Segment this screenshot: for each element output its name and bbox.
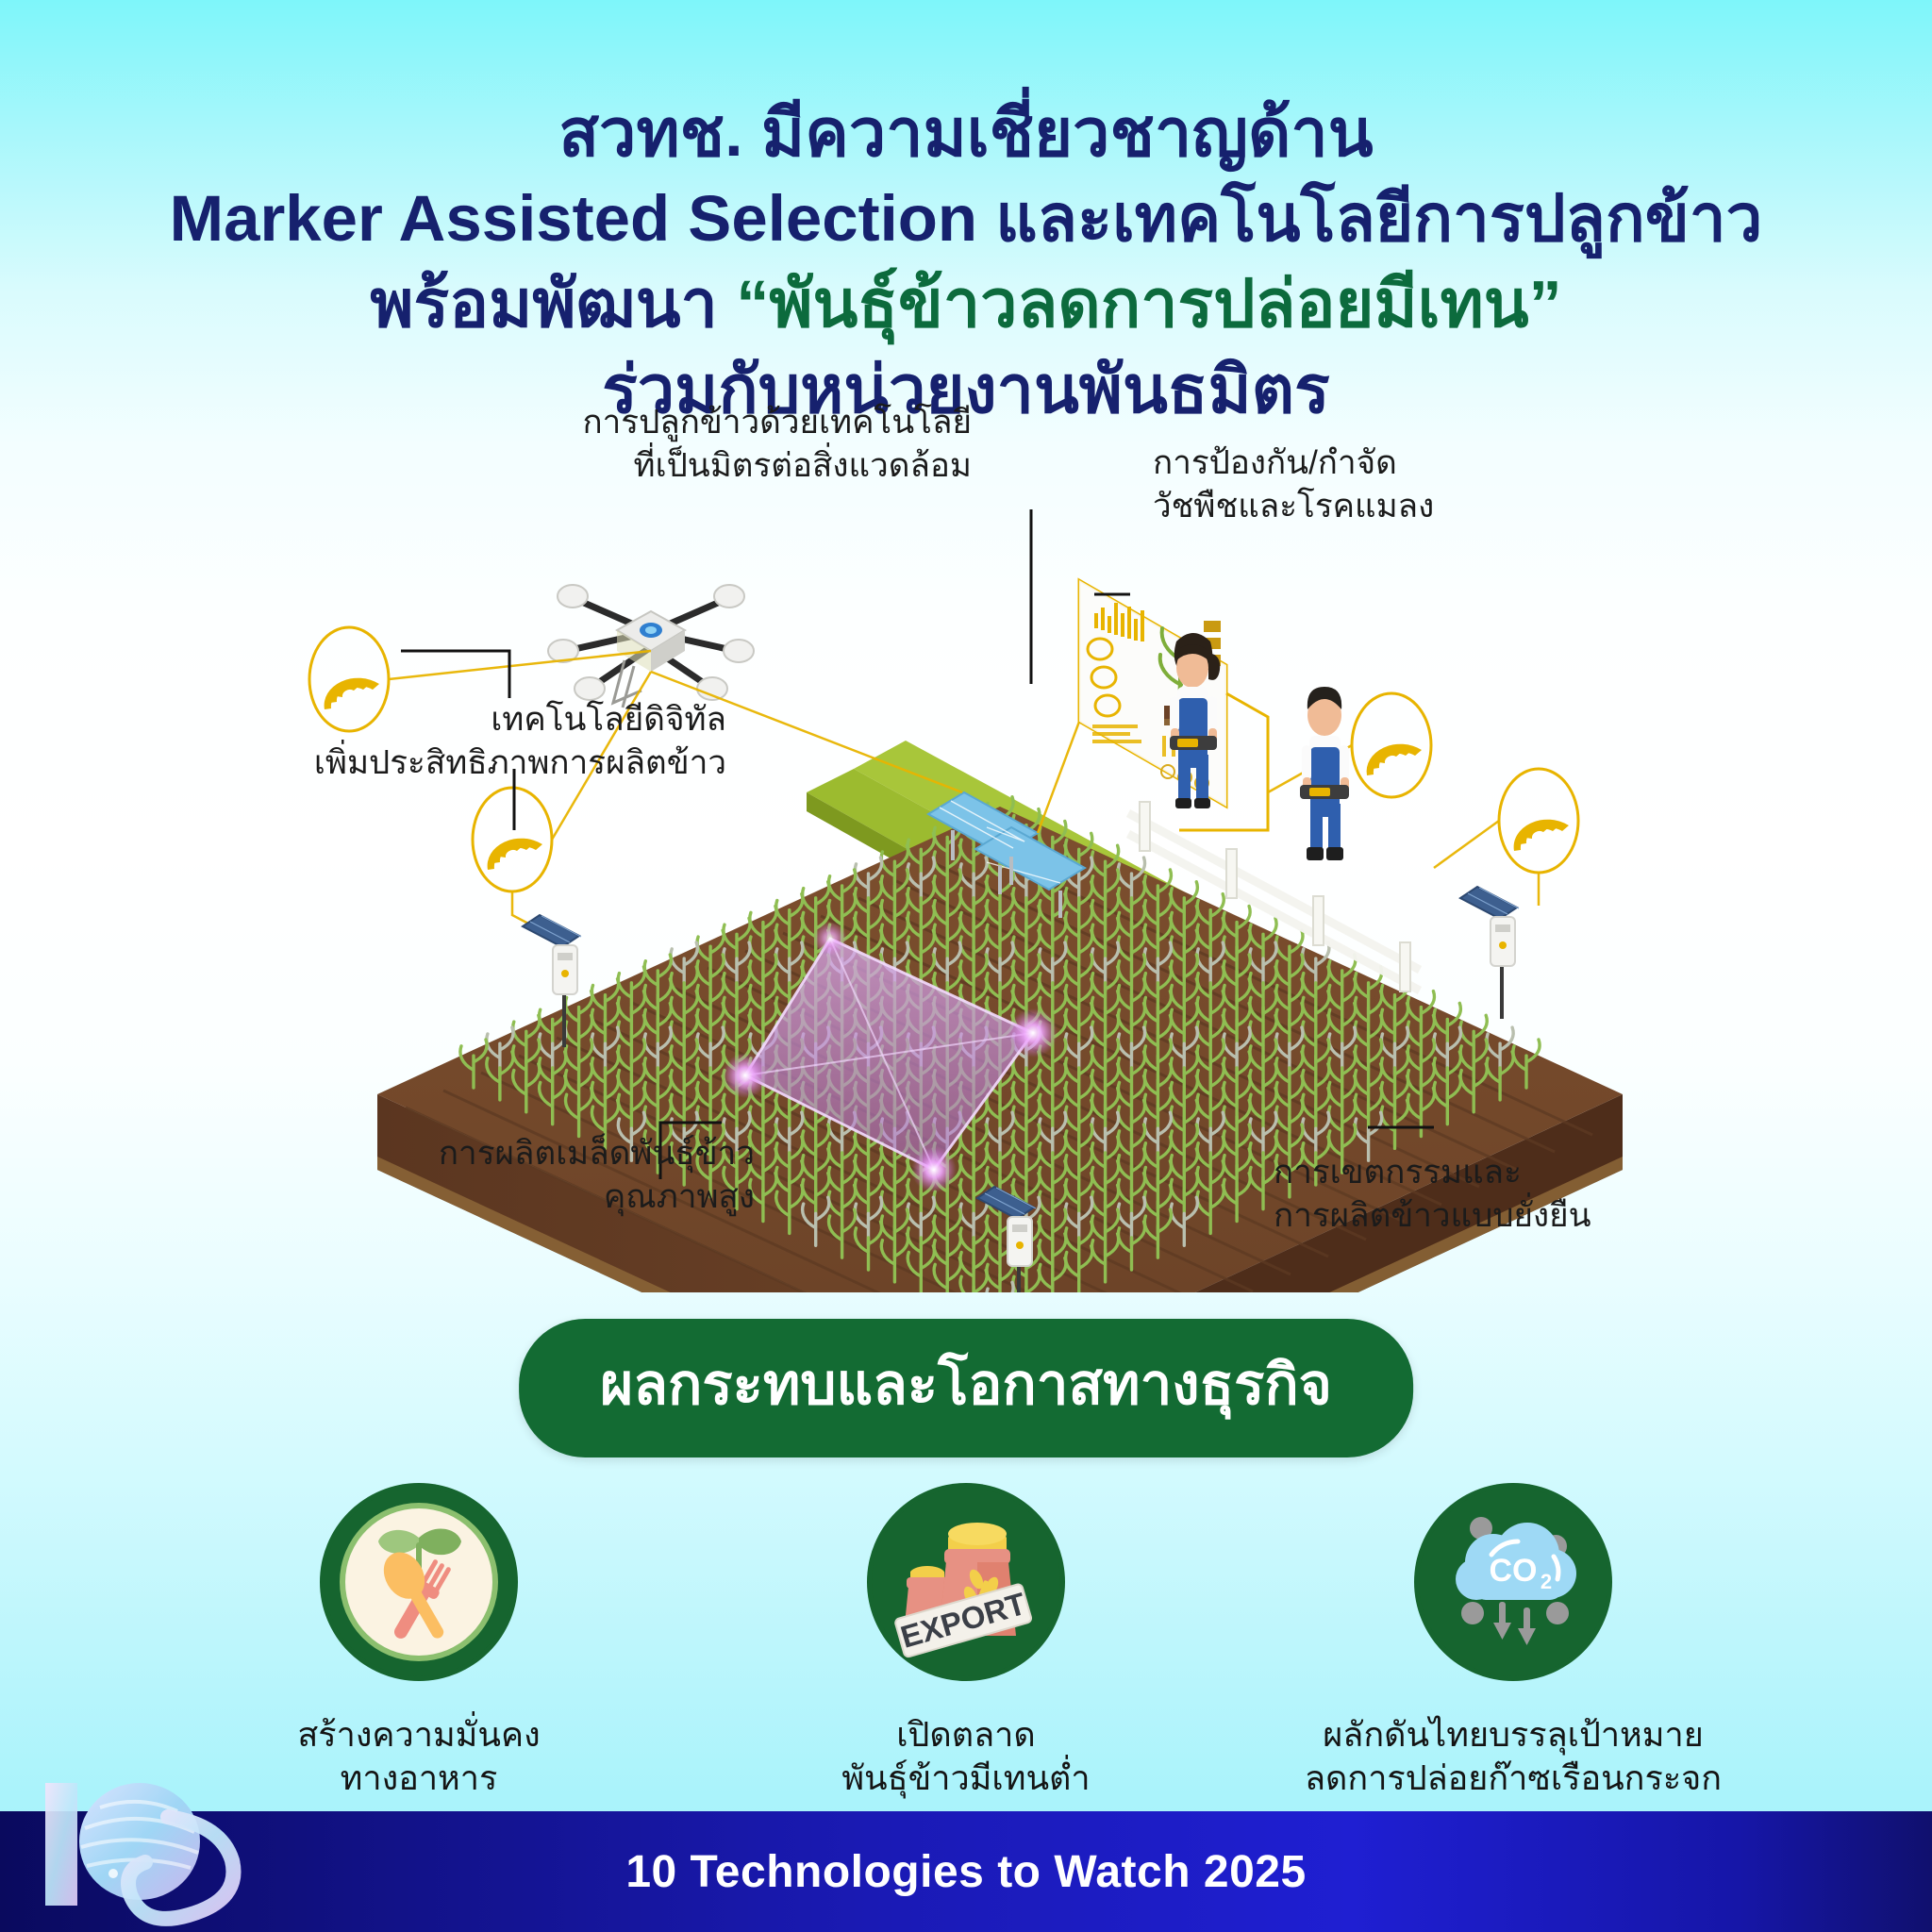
page-title: สวทช. มีความเชี่ยวชาญด้าน Marker Assiste… — [0, 91, 1932, 433]
fork-spoon-leaf-icon — [320, 1483, 518, 1681]
food-security-badge — [320, 1483, 518, 1681]
impact-item-ghg-reduction: CO 2 ผลักดันไทยบรรลุเป้าหมาย ลดกา — [1310, 1483, 1716, 1800]
callout-pest-weed-control: การป้องกัน/กำจัด วัชพืชและโรคแมลง — [1153, 441, 1643, 527]
callout-line: การผลิตข้าวแบบยั่งยืน — [1274, 1194, 1802, 1238]
callout-digital-technology: เทคโนโลยีดิจิทัล เพิ่มประสิทธิภาพการผลิต… — [179, 698, 726, 784]
nstda-10-planet-logo — [26, 1775, 272, 1926]
co2-label-text: CO — [1490, 1553, 1538, 1589]
ghg-reduction-badge: CO 2 — [1414, 1483, 1612, 1681]
impact-caption-line: พันธุ์ข้าวมีเทนต่ำ — [841, 1757, 1090, 1800]
footer-bar: 10 Technologies to Watch 2025 — [0, 1811, 1932, 1932]
drone-icon — [548, 585, 754, 708]
callout-line: เพิ่มประสิทธิภาพการผลิตข้าว — [179, 741, 726, 785]
impact-banner: ผลกระทบและโอกาสทางธุรกิจ — [519, 1319, 1413, 1457]
callout-line: คุณภาพสูง — [226, 1175, 755, 1219]
callout-line: วัชพืชและโรคแมลง — [1153, 485, 1643, 528]
impact-caption-line: ผลักดันไทยบรรลุเป้าหมาย — [1305, 1713, 1722, 1757]
callout-line: การผลิตเมล็ดพันธุ์ข้าว — [226, 1132, 755, 1175]
callout-line: การป้องกัน/กำจัด — [1153, 441, 1643, 485]
co2-subscript-text: 2 — [1541, 1570, 1552, 1593]
impact-caption: สร้างความมั่นคง ทางอาหาร — [297, 1713, 540, 1800]
callout-line: เทคโนโลยีดิจิทัล — [179, 698, 726, 741]
callout-zoning-sustainable-production: การเขตกรรมและ การผลิตข้าวแบบยั่งยืน — [1274, 1151, 1802, 1237]
wifi-signal-icon — [473, 788, 552, 891]
wifi-signal-icon — [1499, 769, 1578, 873]
title-line-2-english: Marker Assisted Selection — [170, 182, 977, 255]
impact-item-export-market: EXPORT เปิดตลาด พันธุ์ข้าวมีเทนต่ำ — [763, 1483, 1169, 1800]
callout-eco-friendly-rice-tech: การปลูกข้าวด้วยเทคโนโลยี ที่เป็นมิตรต่อส… — [443, 401, 972, 487]
title-line-1: สวทช. มีความเชี่ยวชาญด้าน — [0, 91, 1932, 176]
impact-caption-line: ทางอาหาร — [297, 1757, 540, 1800]
co2-cloud-down-icon: CO 2 — [1414, 1483, 1612, 1681]
wifi-signal-icon — [1352, 693, 1431, 797]
impact-caption-line: เปิดตลาด — [841, 1713, 1090, 1757]
impact-caption-line: ลดการปล่อยก๊าซเรือนกระจก — [1305, 1757, 1722, 1800]
farmer-male-icon — [1300, 687, 1349, 860]
impact-item-food-security: สร้างความมั่นคง ทางอาหาร — [216, 1483, 622, 1800]
callout-line: การปลูกข้าวด้วยเทคโนโลยี — [443, 401, 972, 444]
footer-title: 10 Technologies to Watch 2025 — [625, 1846, 1306, 1898]
impact-caption: ผลักดันไทยบรรลุเป้าหมาย ลดการปล่อยก๊าซเร… — [1305, 1713, 1722, 1800]
title-line-3: พร้อมพัฒนา “พันธุ์ข้าวลดการปล่อยมีเทน” — [0, 261, 1932, 347]
impact-caption-line: สร้างความมั่นคง — [297, 1713, 540, 1757]
export-market-badge: EXPORT — [867, 1483, 1065, 1681]
infographic-poster: สวทช. มีความเชี่ยวชาญด้าน Marker Assiste… — [0, 0, 1932, 1932]
title-line-2-thai: และเทคโนโลยีการปลูกข้าว — [977, 182, 1762, 255]
title-line-3-prefix: พร้อมพัฒนา — [370, 267, 736, 341]
callout-quality-seed-production: การผลิตเมล็ดพันธุ์ข้าว คุณภาพสูง — [226, 1132, 755, 1218]
solar-sensor-pole-icon — [1460, 887, 1519, 1019]
callout-line: ที่เป็นมิตรต่อสิ่งแวดล้อม — [443, 444, 972, 488]
rice-sacks-export-icon: EXPORT — [858, 1474, 1074, 1690]
isometric-farm-diagram: การปลูกข้าวด้วยเทคโนโลยี ที่เป็นมิตรต่อส… — [0, 509, 1932, 1292]
callout-line: การเขตกรรมและ — [1274, 1151, 1802, 1194]
title-line-3-highlight: “พันธุ์ข้าวลดการปล่อยมีเทน” — [736, 267, 1561, 341]
title-line-2: Marker Assisted Selection และเทคโนโลยีกา… — [0, 176, 1932, 261]
impact-icons-row: สร้างความมั่นคง ทางอาหาร — [0, 1483, 1932, 1800]
impact-caption: เปิดตลาด พันธุ์ข้าวมีเทนต่ำ — [841, 1713, 1090, 1800]
